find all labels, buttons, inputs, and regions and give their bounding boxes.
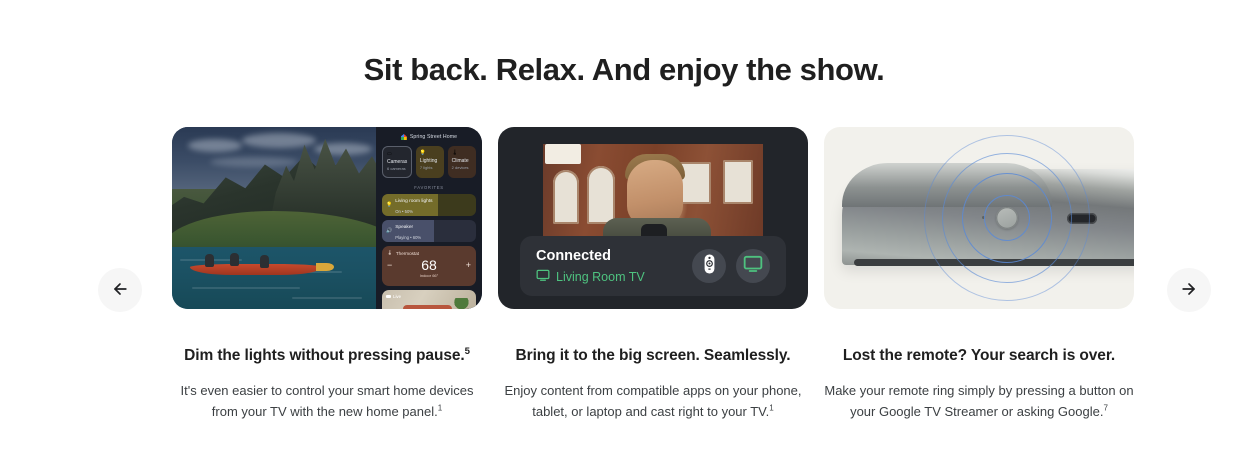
carousel-next-button[interactable] bbox=[1167, 268, 1211, 312]
cast-card: Connected Living Room TV bbox=[498, 127, 808, 309]
chip-sub: 6 cameras bbox=[387, 166, 408, 171]
tv-icon bbox=[536, 269, 550, 286]
device-state: Playing • 60% bbox=[395, 235, 421, 240]
lighting-icon: 💡 bbox=[420, 150, 441, 156]
card-title-text: Bring it to the big screen. Seamlessly. bbox=[516, 347, 791, 364]
cast-device-name: Living Room TV bbox=[556, 269, 645, 286]
signal-ring bbox=[924, 135, 1090, 301]
card-body-footnote: 1 bbox=[438, 404, 442, 413]
couch bbox=[403, 305, 452, 309]
window bbox=[587, 166, 615, 224]
thermostat-label: Thermostat bbox=[396, 251, 419, 256]
home-panel-title: Spring Street Home bbox=[381, 134, 477, 140]
paddler bbox=[230, 253, 239, 266]
cast-to-tv-button[interactable] bbox=[736, 249, 770, 283]
device-name: Speaker bbox=[395, 225, 413, 230]
card-3-title: Lost the remote? Your search is over. bbox=[824, 345, 1134, 366]
google-home-icon bbox=[401, 134, 407, 140]
climate-icon: 🌡 bbox=[452, 150, 473, 156]
card-1-media: Spring Street Home ▭ Cameras 6 cameras 💡… bbox=[172, 127, 482, 309]
arrow-right-icon bbox=[1179, 279, 1199, 302]
card-title-footnote: 5 bbox=[465, 346, 470, 357]
cloud bbox=[188, 139, 242, 152]
chip-label: Climate bbox=[452, 158, 473, 164]
chip-climate[interactable]: 🌡 Climate 2 devices bbox=[448, 146, 476, 178]
card-body-footnote: 1 bbox=[769, 404, 773, 413]
device-name: Living room lights bbox=[395, 199, 432, 204]
favorite-row-speaker[interactable]: 🔊 Speaker Playing • 60% bbox=[382, 220, 476, 242]
chip-label: Lighting bbox=[420, 158, 441, 164]
page-title: Sit back. Relax. And enjoy the show. bbox=[0, 50, 1248, 90]
chip-sub: 2 devices bbox=[452, 165, 473, 170]
plant bbox=[453, 298, 470, 309]
tv-icon bbox=[743, 255, 763, 277]
remote-control-button[interactable] bbox=[692, 249, 726, 283]
paddler bbox=[205, 254, 214, 267]
promo-carousel-section: Sit back. Relax. And enjoy the show. bbox=[0, 0, 1248, 462]
thermostat-tile[interactable]: 🌡 Thermostat − 68 + Indoor 66° bbox=[382, 246, 476, 286]
window bbox=[553, 170, 579, 224]
camera-icon: ▭ bbox=[387, 151, 408, 157]
card-title-text: Lost the remote? Your search is over. bbox=[843, 347, 1115, 364]
thermostat-indoor-temp: Indoor 66° bbox=[387, 273, 471, 278]
card-3-body: Make your remote ring simply by pressing… bbox=[824, 380, 1134, 422]
thermostat-value: 68 bbox=[421, 257, 437, 273]
favorites-header: FAVORITES bbox=[381, 185, 477, 190]
speaker-icon: 🔊 bbox=[386, 228, 392, 234]
kayak-tip bbox=[316, 263, 334, 271]
building-wall bbox=[545, 144, 581, 164]
home-panel[interactable]: Spring Street Home ▭ Cameras 6 cameras 💡… bbox=[376, 127, 482, 309]
live-camera-tile[interactable]: Live bbox=[382, 290, 476, 309]
card-2-title: Bring it to the big screen. Seamlessly. bbox=[498, 345, 808, 366]
thermostat-increase-button[interactable]: + bbox=[466, 258, 471, 272]
cast-status-label: Connected bbox=[536, 247, 692, 266]
window bbox=[723, 160, 753, 204]
chip-sub: 7 lights bbox=[420, 165, 441, 170]
chip-lighting[interactable]: 💡 Lighting 7 lights bbox=[416, 146, 444, 178]
wave bbox=[192, 287, 300, 289]
cast-action-buttons bbox=[692, 249, 770, 283]
device-state: On • 50% bbox=[395, 209, 413, 214]
wave bbox=[292, 297, 362, 299]
carousel-prev-button[interactable] bbox=[98, 268, 142, 312]
carousel-track[interactable]: Spring Street Home ▭ Cameras 6 cameras 💡… bbox=[172, 127, 1248, 417]
carousel-card-2[interactable]: Connected Living Room TV bbox=[498, 127, 808, 422]
camera-icon bbox=[386, 295, 391, 299]
chip-cameras[interactable]: ▭ Cameras 6 cameras bbox=[382, 146, 412, 178]
arrow-left-icon bbox=[110, 279, 130, 302]
cloud bbox=[210, 157, 298, 167]
card-1-title: Dim the lights without pressing pause.5 bbox=[172, 345, 482, 366]
paddler bbox=[260, 255, 269, 268]
card-body-text: Enjoy content from compatible apps on yo… bbox=[504, 383, 801, 419]
cloud bbox=[242, 133, 316, 148]
card-2-media: Connected Living Room TV bbox=[498, 127, 808, 309]
favorite-row-lights[interactable]: 💡 Living room lights On • 50% bbox=[382, 194, 476, 216]
live-label: Live bbox=[393, 294, 401, 299]
cast-device-row: Living Room TV bbox=[536, 269, 692, 286]
carousel-card-1[interactable]: Spring Street Home ▭ Cameras 6 cameras 💡… bbox=[172, 127, 482, 422]
bulb-icon: 💡 bbox=[386, 202, 392, 208]
remote-icon bbox=[704, 254, 715, 279]
card-body-text: It's even easier to control your smart h… bbox=[181, 383, 474, 419]
card-body-footnote: 7 bbox=[1103, 404, 1107, 413]
card-1-body: It's even easier to control your smart h… bbox=[172, 380, 482, 422]
chip-label: Cameras bbox=[387, 159, 408, 165]
actor-face bbox=[627, 160, 683, 226]
live-badge: Live bbox=[386, 294, 401, 299]
card-3-media bbox=[824, 127, 1134, 309]
video-thumbnail bbox=[543, 144, 763, 240]
carousel-card-3[interactable]: Lost the remote? Your search is over. Ma… bbox=[824, 127, 1134, 422]
home-name-label: Spring Street Home bbox=[410, 134, 457, 140]
cast-status-bar: Connected Living Room TV bbox=[520, 236, 786, 296]
card-body-text: Make your remote ring simply by pressing… bbox=[824, 383, 1133, 419]
google-tv-streamer-image bbox=[824, 127, 1134, 309]
thermostat-decrease-button[interactable]: − bbox=[387, 258, 392, 272]
card-title-text: Dim the lights without pressing pause. bbox=[184, 347, 464, 364]
card-2-body: Enjoy content from compatible apps on yo… bbox=[498, 380, 808, 422]
home-panel-chips: ▭ Cameras 6 cameras 💡 Lighting 7 lights … bbox=[381, 146, 477, 178]
thermostat-icon: 🌡 bbox=[387, 250, 393, 256]
